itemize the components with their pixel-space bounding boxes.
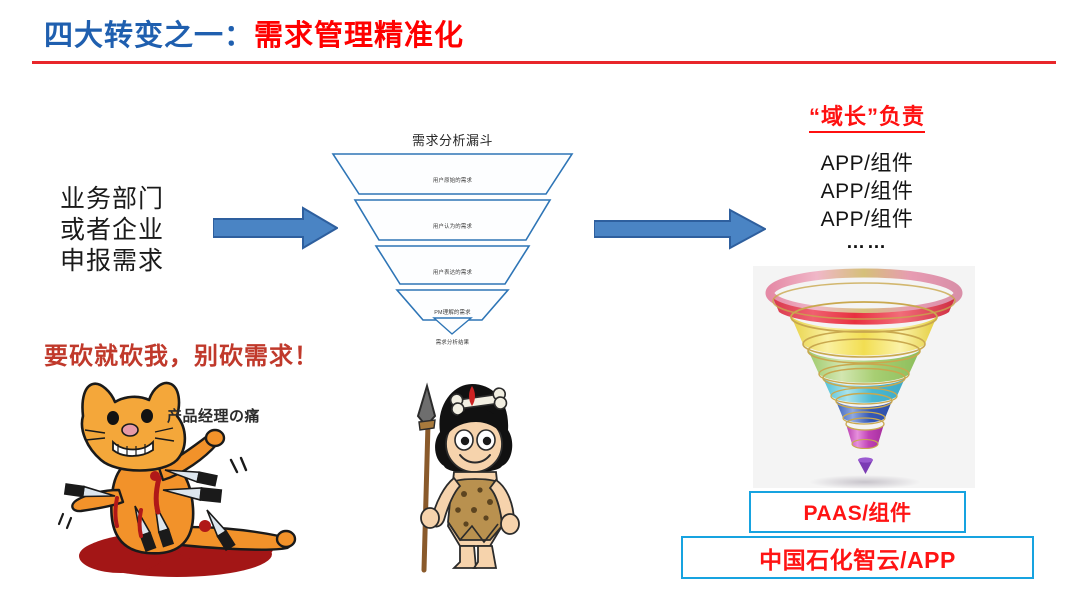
arrow-right-2 xyxy=(594,207,766,251)
zhiyun-app-box[interactable]: 中国石化智云/APP xyxy=(681,536,1034,579)
requirement-analysis-funnel: 需求分析漏斗 用户原始的需求 用户认为的需求 用户表达的需求 PM理解的需求 需… xyxy=(330,130,575,335)
domain-owner-heading-text: “域长”负责 xyxy=(809,104,925,133)
page-title-red: 需求管理精准化 xyxy=(254,20,464,52)
paas-component-box[interactable]: PAAS/组件 xyxy=(749,491,966,533)
app-component-list: APP/组件 APP/组件 APP/组件 xyxy=(752,150,982,234)
page-title-blue: 四大转变之一： xyxy=(44,20,254,52)
left-source-line-2: 或者企业 xyxy=(60,215,164,246)
funnel-level-label-3: 用户表达的需求 xyxy=(330,268,575,276)
arrow-right-1 xyxy=(213,206,338,250)
slide-canvas: 四大转变之一：需求管理精准化 业务部门 或者企业 申报需求 需求分析漏斗 用户原… xyxy=(0,0,1080,596)
funnel-level-label-5: 需求分析结果 xyxy=(330,338,575,346)
product-manager-pain-cat-illustration: 产品经理の痛 xyxy=(55,378,315,583)
funnel-level-label-2: 用户认为的需求 xyxy=(330,222,575,230)
cat-caption: 产品经理の痛 xyxy=(167,405,260,426)
pipeline-3d-funnel xyxy=(753,268,975,490)
funnel-level-label-1: 用户原始的需求 xyxy=(330,176,575,184)
title-divider xyxy=(32,61,1056,64)
ellipsis-1: …… xyxy=(752,232,982,254)
list-item: APP/组件 xyxy=(752,178,982,206)
paas-component-label: PAAS/组件 xyxy=(803,497,911,527)
list-item: APP/组件 xyxy=(752,150,982,178)
domain-owner-heading: “域长”负责 xyxy=(752,99,982,131)
zhiyun-app-label: 中国石化智云/APP xyxy=(759,541,956,575)
left-source-line-1: 业务部门 xyxy=(60,184,164,215)
left-source-text: 业务部门 或者企业 申报需求 xyxy=(60,184,164,277)
slogan-text: 要砍就砍我，别砍需求！ xyxy=(44,336,319,371)
left-source-line-3: 申报需求 xyxy=(60,246,164,277)
page-title: 四大转变之一：需求管理精准化 xyxy=(44,12,464,54)
funnel-level-label-4: PM理解的需求 xyxy=(330,308,575,316)
caveman-graphic xyxy=(402,370,537,578)
list-item: APP/组件 xyxy=(752,206,982,234)
funnel-title: 需求分析漏斗 xyxy=(330,130,575,149)
caveman-illustration xyxy=(402,370,537,578)
